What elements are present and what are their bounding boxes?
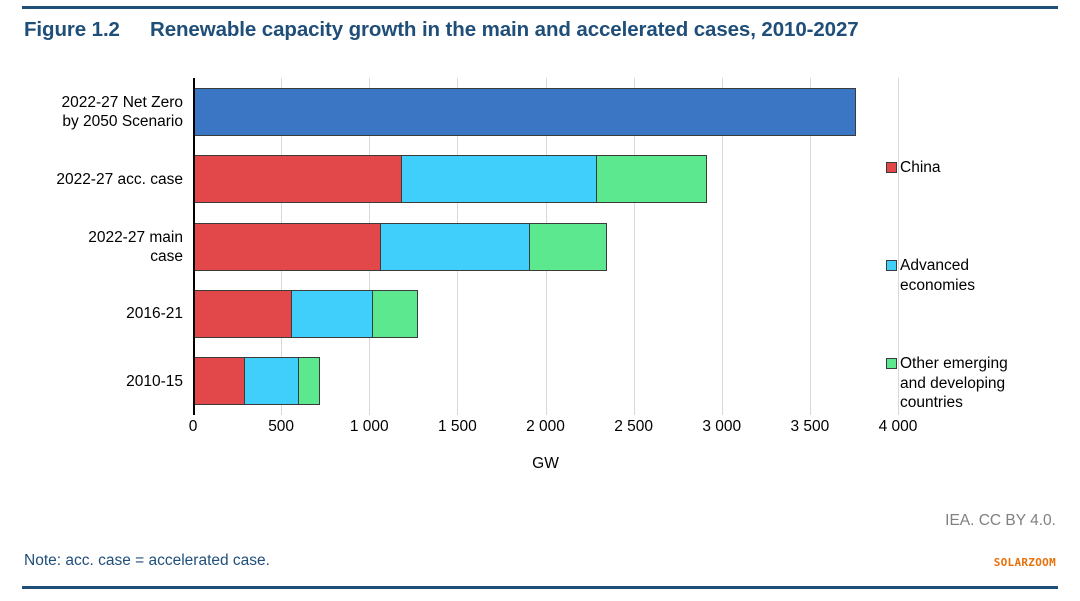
bar-row[interactable]	[193, 223, 607, 271]
y-axis-line	[193, 78, 195, 415]
y-axis-label-line: 2022-27 Net Zero	[3, 93, 183, 112]
y-axis-labels: 2022-27 Net Zeroby 2050 Scenario2022-27 …	[0, 78, 183, 415]
y-axis-label: 2022-27 acc. case	[3, 170, 183, 189]
x-tick-label: 4 000	[879, 418, 918, 436]
header-top-rule	[22, 6, 1058, 9]
plot-area	[193, 78, 898, 415]
y-axis-label: 2022-27 maincase	[3, 228, 183, 266]
y-axis-label: 2016-21	[3, 304, 183, 323]
x-tick-label: 3 500	[790, 418, 829, 436]
x-tick-label: 3 000	[702, 418, 741, 436]
x-axis-ticks: 05001 0001 5002 0002 5003 0003 5004 000	[193, 418, 898, 442]
y-axis-label: 2010-15	[3, 372, 183, 391]
y-axis-label-line: case	[3, 247, 183, 266]
x-tick-label: 1 500	[438, 418, 477, 436]
figure-note: Note: acc. case = accelerated case.	[24, 552, 270, 570]
bar-segment[interactable]	[193, 155, 403, 203]
bar-segment[interactable]	[596, 155, 707, 203]
x-tick-label: 500	[268, 418, 294, 436]
bar-segment[interactable]	[193, 357, 245, 405]
bar-row[interactable]	[193, 155, 707, 203]
figure-title: Renewable capacity growth in the main an…	[150, 18, 859, 42]
legend-item[interactable]: Advanced economies	[886, 256, 975, 295]
x-tick-label: 0	[189, 418, 198, 436]
x-tick-label: 2 000	[526, 418, 565, 436]
bar-segment[interactable]	[193, 88, 856, 136]
legend-swatch-icon	[886, 162, 897, 173]
solarzoom-watermark: SOLARZOOM	[994, 556, 1056, 569]
figure-number: Figure 1.2	[24, 18, 150, 42]
y-axis-label-line: 2010-15	[3, 372, 183, 391]
bar-segment[interactable]	[380, 223, 530, 271]
y-axis-label-line: by 2050 Scenario	[3, 112, 183, 131]
bar-segment[interactable]	[298, 357, 320, 405]
bar-segment[interactable]	[291, 290, 373, 338]
legend-label: Advanced economies	[900, 256, 975, 295]
bar-row[interactable]	[193, 88, 856, 136]
legend-item[interactable]: Other emerging and developing countries	[886, 354, 1008, 413]
x-tick-label: 1 000	[350, 418, 389, 436]
x-axis-title: GW	[193, 455, 898, 473]
legend-label: China	[900, 158, 941, 178]
bar-segment[interactable]	[529, 223, 607, 271]
y-axis-label-line: 2022-27 main	[3, 228, 183, 247]
bar-segment[interactable]	[193, 223, 382, 271]
bar-segment[interactable]	[372, 290, 418, 338]
bar-segment[interactable]	[193, 290, 293, 338]
x-tick-label: 2 500	[614, 418, 653, 436]
footer-bottom-rule	[22, 586, 1058, 589]
y-axis-label-line: 2022-27 acc. case	[3, 170, 183, 189]
figure-header: Figure 1.2 Renewable capacity growth in …	[24, 18, 1064, 42]
bar-row[interactable]	[193, 290, 418, 338]
bar-segment[interactable]	[401, 155, 597, 203]
legend-item[interactable]: China	[886, 158, 941, 178]
legend-swatch-icon	[886, 358, 897, 369]
bar-row[interactable]	[193, 357, 320, 405]
legend-swatch-icon	[886, 260, 897, 271]
iea-credit: IEA. CC BY 4.0.	[945, 512, 1056, 530]
y-axis-label: 2022-27 Net Zeroby 2050 Scenario	[3, 93, 183, 131]
bar-segment[interactable]	[244, 357, 300, 405]
legend-label: Other emerging and developing countries	[900, 354, 1008, 413]
y-axis-label-line: 2016-21	[3, 304, 183, 323]
